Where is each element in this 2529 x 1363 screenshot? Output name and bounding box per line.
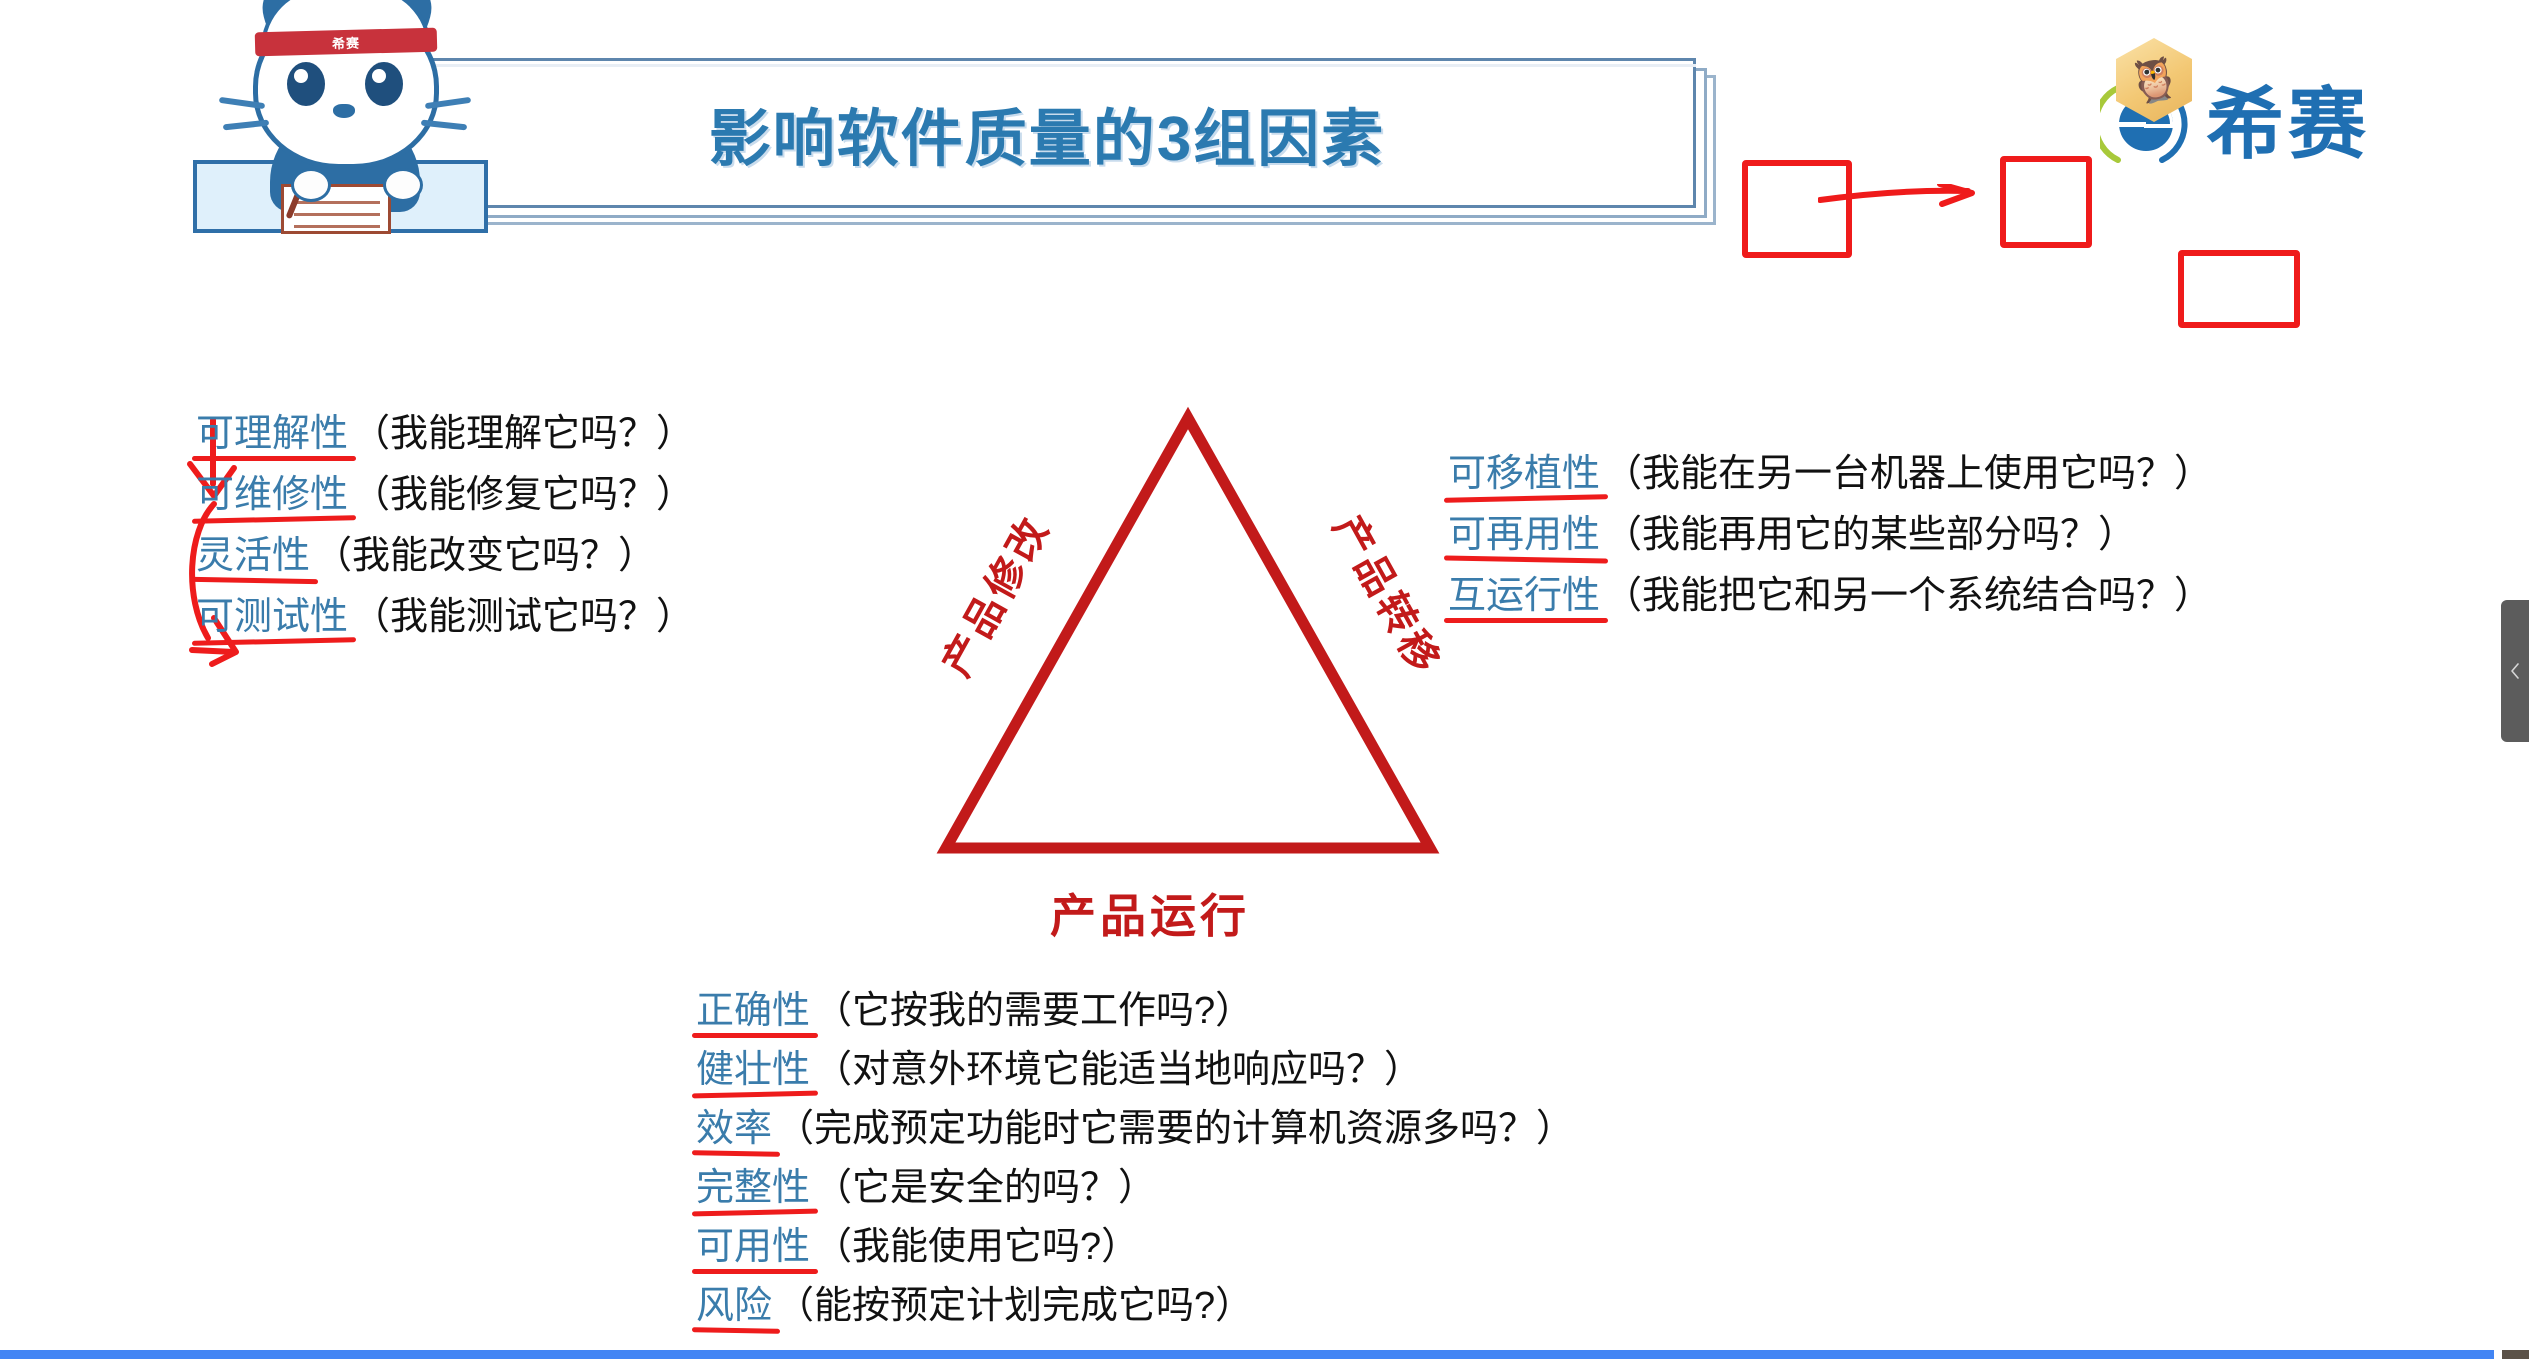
- marker-box-2: [2000, 156, 2092, 248]
- red-underline: [1444, 494, 1608, 503]
- factor-description: （它是安全的吗？）: [814, 1169, 1156, 1207]
- factor-description: （我能理解它吗？）: [352, 415, 694, 453]
- factor-term: 可移植性: [1448, 455, 1600, 496]
- red-underline: [692, 1269, 818, 1274]
- factor-term: 效率: [696, 1110, 772, 1151]
- factor-term-label: 完整性: [696, 1167, 810, 1209]
- red-underline: [1444, 618, 1608, 623]
- factor-term: 风险: [696, 1287, 772, 1328]
- panel-collapse-tab[interactable]: [2501, 600, 2529, 742]
- factor-row: 健壮性 （对意外环境它能适当地响应吗？）: [696, 1051, 1574, 1092]
- factor-term: 互运行性: [1448, 577, 1600, 618]
- factor-term: 可再用性: [1448, 516, 1600, 557]
- cat-paw-left: [291, 168, 331, 202]
- factor-term-label: 可理解性: [196, 413, 348, 455]
- slide-canvas: 影响软件质量的3组因素 希赛 🦉: [0, 0, 2529, 1363]
- red-underline: [192, 637, 356, 646]
- factor-term: 灵活性: [196, 537, 310, 578]
- factor-term-label: 效率: [696, 1108, 772, 1150]
- marker-box-3: [2178, 250, 2300, 328]
- red-underline: [692, 1033, 818, 1038]
- factor-description: （我能在另一台机器上使用它吗？）: [1604, 455, 2212, 493]
- factor-term-label: 可再用性: [1448, 514, 1600, 556]
- cat-headband-label: 希赛: [255, 28, 438, 57]
- factor-description: （对意外环境它能适当地响应吗？）: [814, 1051, 1422, 1089]
- factor-description: （我能修复它吗？）: [352, 476, 694, 514]
- factor-row: 正确性 （它按我的需要工作吗?）: [696, 992, 1574, 1033]
- factor-row: 可维修性 （我能修复它吗？）: [196, 476, 694, 517]
- factor-row: 互运行性 （我能把它和另一个系统结合吗？）: [1448, 577, 2212, 618]
- factor-description: （完成预定功能时它需要的计算机资源多吗？）: [776, 1110, 1574, 1148]
- factor-row: 灵活性 （我能改变它吗？）: [196, 537, 694, 578]
- cat-nose: [333, 104, 355, 118]
- factor-term-label: 风险: [696, 1285, 772, 1327]
- red-underline: [192, 577, 318, 584]
- factor-description: （我能改变它吗？）: [314, 537, 656, 575]
- page-title: 影响软件质量的3组因素: [398, 58, 1696, 208]
- notebook-line: [294, 225, 380, 228]
- marker-arrow-icon: [1818, 184, 2008, 208]
- red-underline: [692, 1150, 780, 1157]
- factor-term-label: 互运行性: [1448, 575, 1600, 617]
- factor-description: （我能使用它吗?）: [814, 1228, 1139, 1266]
- factor-row: 可用性 （我能使用它吗?）: [696, 1228, 1574, 1269]
- factor-row: 可理解性 （我能理解它吗？）: [196, 415, 694, 456]
- factor-term-label: 正确性: [696, 990, 810, 1032]
- factor-term: 完整性: [696, 1169, 810, 1210]
- factor-description: （我能再用它的某些部分吗？）: [1604, 516, 2136, 554]
- factor-term: 可测试性: [196, 598, 348, 639]
- factor-row: 可移植性 （我能在另一台机器上使用它吗？）: [1448, 455, 2212, 496]
- factor-term-label: 灵活性: [196, 535, 310, 577]
- factor-term-label: 可用性: [696, 1226, 810, 1268]
- factor-description: （我能测试它吗？）: [352, 598, 694, 636]
- factor-term: 可用性: [696, 1228, 810, 1269]
- factor-row: 可测试性 （我能测试它吗？）: [196, 598, 694, 639]
- factor-group-product-transition: 可移植性 （我能在另一台机器上使用它吗？） 可再用性 （我能再用它的某些部分吗？…: [1448, 455, 2212, 638]
- factor-term-label: 健壮性: [696, 1049, 810, 1091]
- mascot-illustration: 希赛: [95, 0, 405, 262]
- triangle-label-product-operation: 产品运行: [1050, 880, 1250, 946]
- factor-description: （它按我的需要工作吗?）: [814, 992, 1253, 1030]
- red-underline: [692, 1091, 818, 1099]
- chevron-left-icon: [2509, 662, 2521, 680]
- brand-name: 希赛: [2206, 85, 2370, 163]
- factor-term: 健壮性: [696, 1051, 810, 1092]
- factor-group-product-revision: 可理解性 （我能理解它吗？） 可维修性 （我能修复它吗？） 灵活性 （我能改变它…: [196, 415, 694, 659]
- factor-term-label: 可测试性: [196, 596, 348, 638]
- marker-box-1: [1742, 160, 1852, 258]
- factor-row: 效率 （完成预定功能时它需要的计算机资源多吗？）: [696, 1110, 1574, 1151]
- factor-row: 风险 （能按预定计划完成它吗?）: [696, 1287, 1574, 1328]
- factor-term-label: 可维修性: [196, 474, 348, 516]
- red-underline: [192, 515, 356, 524]
- factor-row: 完整性 （它是安全的吗？）: [696, 1169, 1574, 1210]
- factor-description: （能按预定计划完成它吗?）: [776, 1287, 1253, 1325]
- factor-term-label: 可移植性: [1448, 453, 1600, 495]
- red-underline: [192, 456, 356, 461]
- notebook-line: [294, 213, 380, 216]
- video-progress-bar[interactable]: [0, 1350, 2529, 1359]
- factor-term: 可理解性: [196, 415, 348, 456]
- factor-term: 正确性: [696, 992, 810, 1033]
- factor-group-product-operation: 正确性 （它按我的需要工作吗?） 健壮性 （对意外环境它能适当地响应吗？） 效率…: [696, 992, 1574, 1346]
- red-underline: [1444, 555, 1608, 563]
- cat-eye-left: [287, 62, 325, 106]
- red-underline: [692, 1209, 818, 1217]
- video-progress-handle[interactable]: [2494, 1349, 2502, 1360]
- cat-eye-right: [365, 62, 403, 106]
- red-underline: [692, 1327, 780, 1334]
- cat-paw-right: [383, 168, 423, 202]
- video-progress-fill: [0, 1350, 2498, 1359]
- factor-term: 可维修性: [196, 476, 348, 517]
- bird-icon: 🦉: [2124, 54, 2184, 106]
- factor-description: （我能把它和另一个系统结合吗？）: [1604, 577, 2212, 615]
- factor-row: 可再用性 （我能再用它的某些部分吗？）: [1448, 516, 2212, 557]
